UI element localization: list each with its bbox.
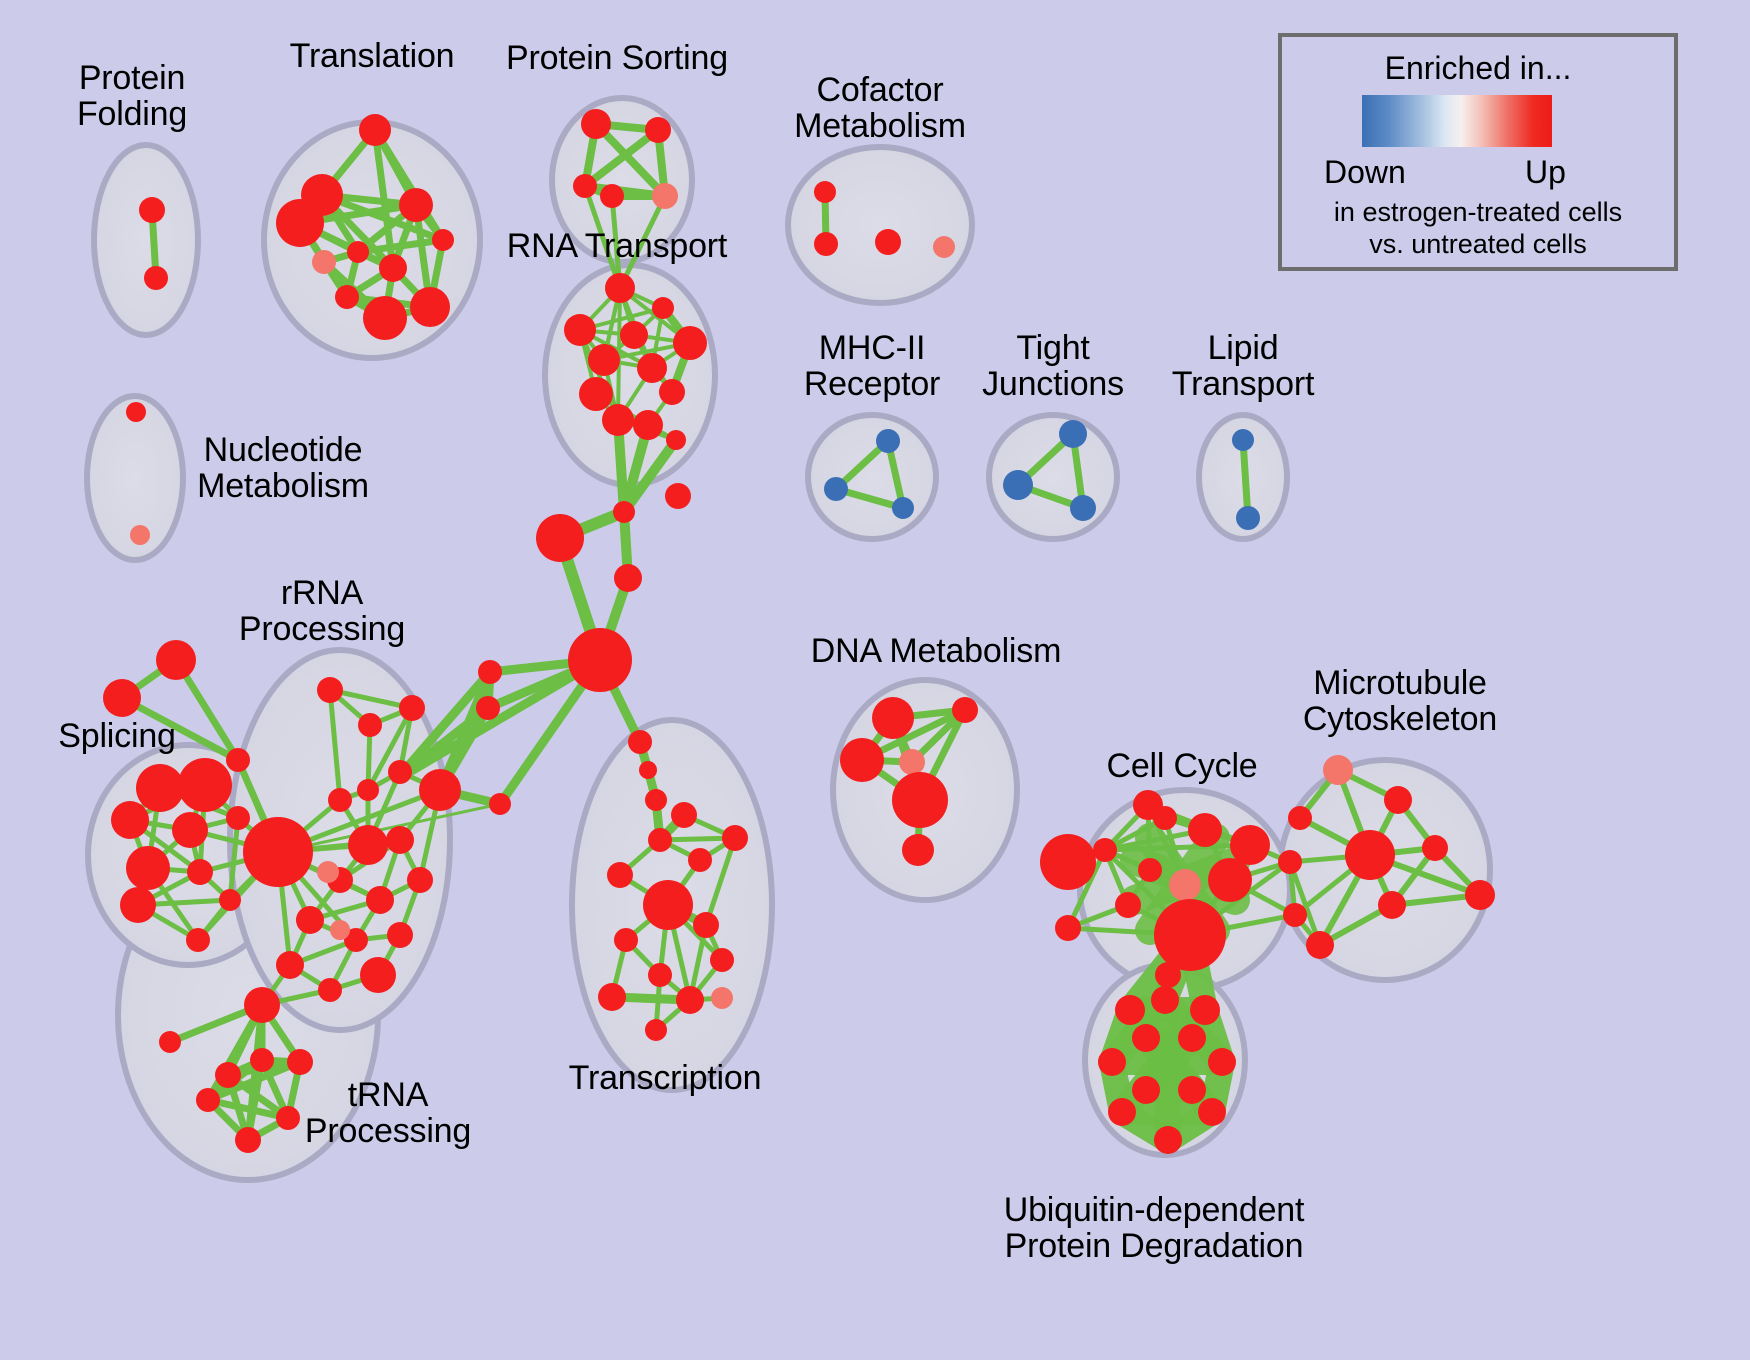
- node-down: [824, 477, 848, 501]
- node-up: [581, 109, 611, 139]
- node-up: [693, 912, 719, 938]
- node-up: [1040, 834, 1096, 890]
- node-up: [357, 779, 379, 801]
- node-up: [536, 514, 584, 562]
- node-down: [1059, 420, 1087, 448]
- node-up: [1098, 1048, 1126, 1076]
- node-up: [215, 1062, 241, 1088]
- node-up: [1288, 806, 1312, 830]
- node-up: [243, 817, 313, 887]
- legend-subtitle-line1: in estrogen-treated cells: [1282, 197, 1674, 228]
- node-up: [399, 188, 433, 222]
- node-up: [613, 501, 635, 523]
- node-up-pale: [317, 861, 339, 883]
- node-up: [276, 199, 324, 247]
- node-up: [235, 1127, 261, 1153]
- node-up: [637, 353, 667, 383]
- node-up: [186, 928, 210, 952]
- node-up: [648, 828, 672, 852]
- node-up: [1378, 891, 1406, 919]
- node-up: [348, 825, 388, 865]
- node-up: [159, 1031, 181, 1053]
- node-up: [328, 788, 352, 812]
- node-up-pale: [330, 920, 350, 940]
- node-up: [226, 748, 250, 772]
- legend-low-label: Down: [1324, 154, 1406, 191]
- node-up: [126, 846, 170, 890]
- node-up: [111, 801, 149, 839]
- node-up: [476, 696, 500, 720]
- node-up: [814, 181, 836, 203]
- node-up: [607, 862, 633, 888]
- legend-panel: Enriched in... Down Up in estrogen-treat…: [1278, 33, 1678, 271]
- legend-high-label: Up: [1525, 154, 1566, 191]
- node-up: [645, 1019, 667, 1041]
- node-up: [407, 867, 433, 893]
- node-up: [489, 793, 511, 815]
- legend-subtitle-line2: vs. untreated cells: [1282, 229, 1674, 260]
- node-up: [410, 287, 450, 327]
- node-up: [360, 957, 396, 993]
- node-up: [840, 738, 884, 782]
- node-up: [902, 834, 934, 866]
- node-up: [1132, 1076, 1160, 1104]
- node-up: [1178, 1076, 1206, 1104]
- node-up: [614, 928, 638, 952]
- node-up: [645, 789, 667, 811]
- node-up: [1208, 1048, 1236, 1076]
- node-up: [196, 1088, 220, 1112]
- node-up: [600, 184, 624, 208]
- node-down: [1232, 429, 1254, 451]
- legend-title: Enriched in...: [1282, 50, 1674, 87]
- node-up: [872, 697, 914, 739]
- node-up: [652, 297, 674, 319]
- node-up: [605, 273, 635, 303]
- node-up: [386, 826, 414, 854]
- node-up: [1154, 1126, 1182, 1154]
- hull-mhc-ii-receptor: [808, 415, 936, 539]
- node-down: [1003, 470, 1033, 500]
- node-down: [876, 429, 900, 453]
- node-up-pale: [312, 250, 336, 274]
- node-down: [1070, 495, 1096, 521]
- node-up: [276, 951, 304, 979]
- node-up-pale: [933, 236, 955, 258]
- node-up: [1188, 813, 1222, 847]
- node-up: [366, 886, 394, 914]
- node-up: [1154, 899, 1226, 971]
- node-up: [478, 660, 502, 684]
- node-up: [722, 825, 748, 851]
- node-up: [1198, 1098, 1226, 1126]
- node-up: [347, 241, 369, 263]
- node-up: [379, 254, 407, 282]
- node-up: [1115, 995, 1145, 1025]
- node-up-pale: [1323, 755, 1353, 785]
- node-up: [1190, 995, 1220, 1025]
- node-up: [103, 679, 141, 717]
- node-up: [419, 769, 461, 811]
- node-up: [659, 379, 685, 405]
- node-up-pale: [652, 183, 678, 209]
- node-up: [363, 296, 407, 340]
- node-up: [639, 761, 657, 779]
- node-up: [244, 987, 280, 1023]
- node-up: [875, 229, 901, 255]
- node-up: [620, 321, 648, 349]
- node-up: [628, 730, 652, 754]
- node-up: [666, 430, 686, 450]
- node-up: [287, 1049, 313, 1075]
- node-up: [187, 859, 213, 885]
- node-up: [1178, 1024, 1206, 1052]
- node-up: [126, 402, 146, 422]
- node-up: [1138, 858, 1162, 882]
- node-up: [296, 906, 324, 934]
- node-up: [120, 887, 156, 923]
- node-up: [1093, 838, 1117, 862]
- node-up: [144, 266, 168, 290]
- node-up: [648, 963, 672, 987]
- node-up: [387, 922, 413, 948]
- node-up: [399, 695, 425, 721]
- node-up: [598, 983, 626, 1011]
- node-up: [1132, 1024, 1160, 1052]
- enrichment-map-figure: Protein Folding Translation Protein Sort…: [0, 0, 1750, 1360]
- node-up: [359, 114, 391, 146]
- node-up: [172, 812, 208, 848]
- node-up: [602, 404, 634, 436]
- node-down: [892, 497, 914, 519]
- node-up: [614, 564, 642, 592]
- node-up: [1306, 931, 1334, 959]
- node-up: [136, 764, 184, 812]
- node-up: [358, 713, 382, 737]
- node-up: [156, 640, 196, 680]
- node-up: [1283, 903, 1307, 927]
- node-up: [317, 677, 343, 703]
- node-up-pale: [711, 987, 733, 1009]
- node-up: [568, 628, 632, 692]
- node-up: [1384, 786, 1412, 814]
- node-up: [665, 483, 691, 509]
- node-up: [688, 848, 712, 872]
- node-up: [178, 758, 232, 812]
- node-up: [139, 197, 165, 223]
- node-up: [671, 802, 697, 828]
- node-up: [226, 806, 250, 830]
- node-up: [250, 1048, 274, 1072]
- node-up: [1465, 880, 1495, 910]
- node-up: [710, 948, 734, 972]
- node-up: [645, 117, 671, 143]
- node-up-pale: [130, 525, 150, 545]
- node-up: [564, 314, 596, 346]
- node-up: [573, 174, 597, 198]
- node-up: [1155, 962, 1181, 988]
- node-up-pale: [1169, 869, 1201, 901]
- node-up: [1108, 1098, 1136, 1126]
- color-scale-bar: [1362, 95, 1552, 147]
- node-up: [432, 229, 454, 251]
- node-up: [676, 986, 704, 1014]
- node-up: [335, 285, 359, 309]
- hull-protein-folding: [94, 145, 198, 335]
- node-down: [1236, 506, 1260, 530]
- node-up: [1153, 806, 1177, 830]
- node-up: [1151, 986, 1179, 1014]
- node-up: [673, 326, 707, 360]
- node-up: [588, 344, 620, 376]
- node-up: [276, 1106, 300, 1130]
- node-up: [1115, 892, 1141, 918]
- node-up: [318, 978, 342, 1002]
- node-up: [579, 377, 613, 411]
- node-up: [388, 760, 412, 784]
- node-up: [1422, 835, 1448, 861]
- node-up: [633, 410, 663, 440]
- node-up: [1055, 915, 1081, 941]
- node-up: [1278, 850, 1302, 874]
- node-up: [219, 889, 241, 911]
- node-up: [814, 232, 838, 256]
- node-up: [1345, 830, 1395, 880]
- node-up-pale: [899, 749, 925, 775]
- node-up: [643, 880, 693, 930]
- node-up: [892, 772, 948, 828]
- node-up: [1208, 858, 1252, 902]
- hull-cofactor-metabolism: [788, 147, 972, 303]
- node-up: [952, 697, 978, 723]
